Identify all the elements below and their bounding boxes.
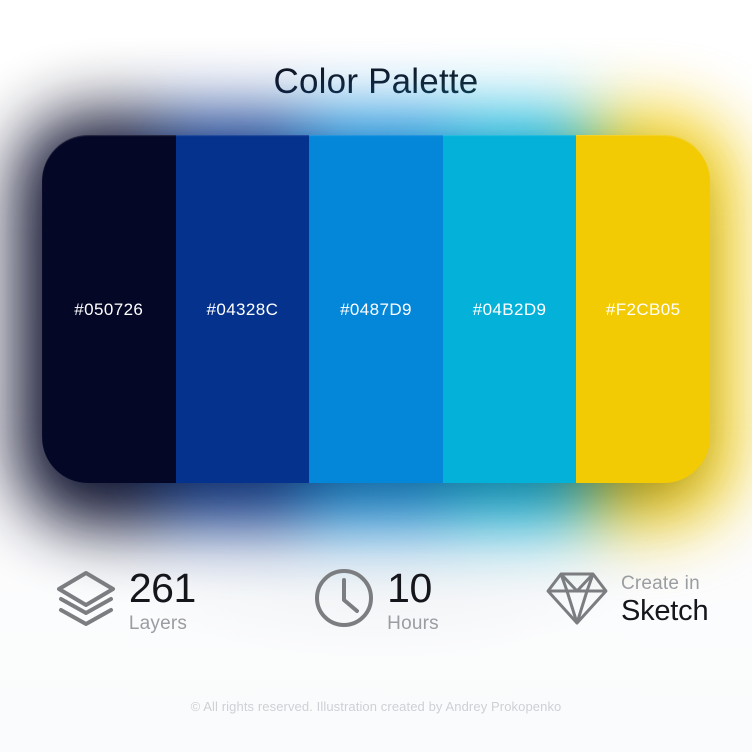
stat-sketch-text: Create in Sketch [621, 574, 708, 626]
sketch-diamond-icon [545, 569, 609, 632]
palette-card: #050726 #04328C #0487D9 #04B2D9 #F2CB05 [42, 135, 710, 483]
color-swatch[interactable]: #050726 [42, 135, 176, 483]
color-swatch[interactable]: #0487D9 [309, 135, 443, 483]
stat-sketch[interactable]: Create in Sketch [501, 552, 752, 648]
swatch-hex-label: #04B2D9 [473, 300, 547, 320]
swatch-hex-label: #04328C [206, 300, 278, 320]
stat-layers-unit: Layers [129, 614, 196, 633]
stat-hours-value: 10 [387, 568, 439, 609]
stat-layers-value: 261 [129, 568, 196, 609]
stat-layers: 261 Layers [0, 552, 251, 648]
palette-card-area: #050726 #04328C #0487D9 #04B2D9 #F2CB05 [42, 135, 710, 483]
color-swatch[interactable]: #F2CB05 [576, 135, 710, 483]
footer-credit: © All rights reserved. Illustration crea… [0, 699, 752, 714]
stat-hours-text: 10 Hours [387, 568, 439, 633]
stats-row: 261 Layers 10 Hours [0, 552, 752, 648]
swatch-hex-label: #050726 [74, 300, 143, 320]
stat-hours-unit: Hours [387, 614, 439, 633]
stat-hours: 10 Hours [251, 552, 502, 648]
stat-layers-text: 261 Layers [129, 568, 196, 633]
sketch-line-top: Create in [621, 574, 708, 593]
sketch-line-bottom: Sketch [621, 597, 708, 626]
page-title: Color Palette [0, 62, 752, 102]
page-root: Color Palette #050726 #04328C #0487D9 # [0, 0, 752, 752]
color-swatch[interactable]: #04B2D9 [443, 135, 577, 483]
swatch-hex-label: #F2CB05 [606, 300, 681, 320]
color-swatch[interactable]: #04328C [176, 135, 310, 483]
clock-icon [313, 567, 375, 634]
layers-icon [55, 570, 117, 631]
swatch-hex-label: #0487D9 [340, 300, 412, 320]
